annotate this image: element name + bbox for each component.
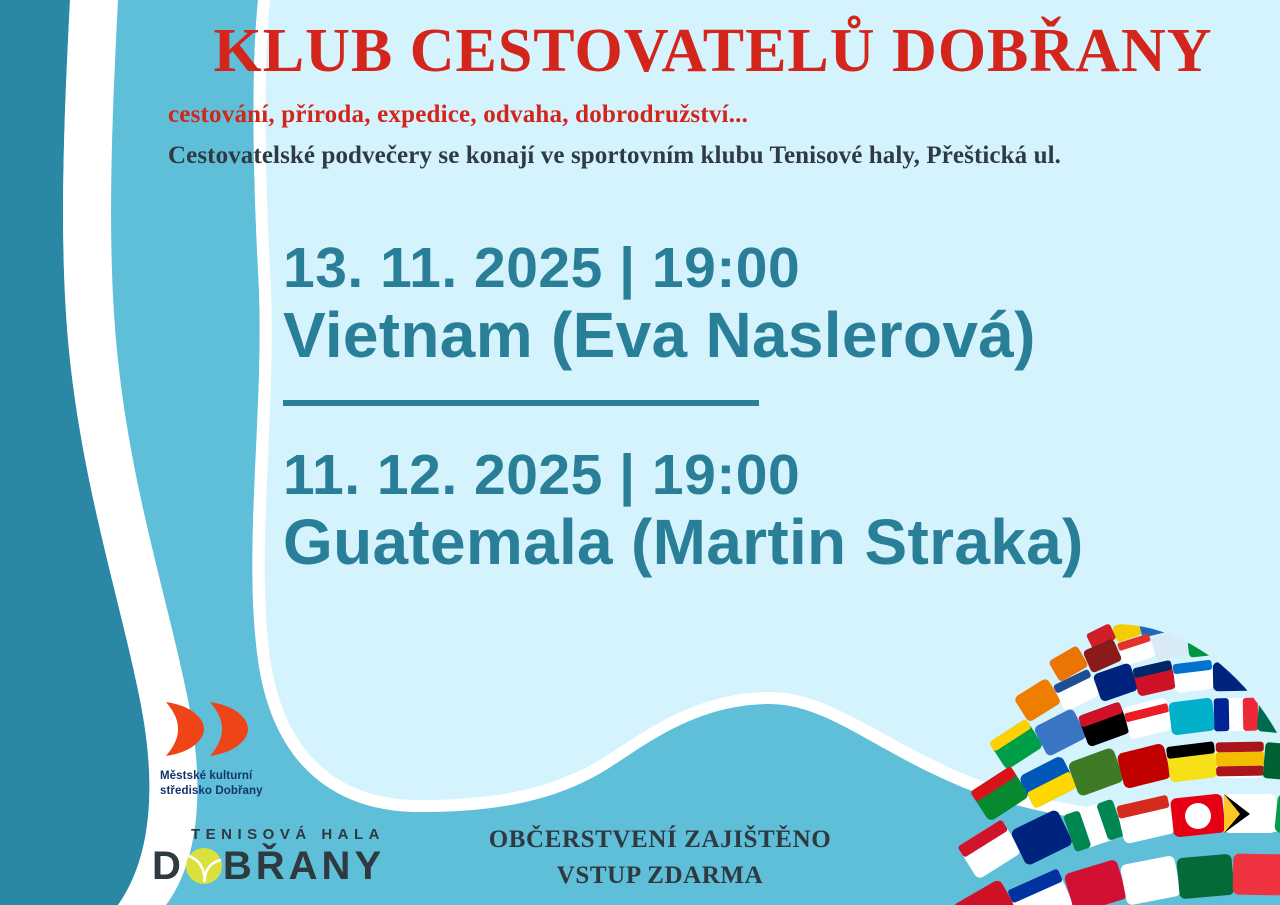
poster-header: KLUB CESTOVATELŮ DOBŘANY cestování, přír… — [168, 18, 1258, 170]
event-date: 11. 12. 2025 | 19:00 — [283, 445, 1163, 507]
tennis-logo-letter-d: D — [152, 844, 185, 888]
mks-quote-marks-icon — [160, 700, 250, 758]
event-divider — [283, 400, 759, 406]
poster-canvas: KLUB CESTOVATELŮ DOBŘANY cestování, přír… — [0, 0, 1280, 905]
tennis-ball-icon — [185, 847, 223, 885]
info-refreshments: OBČERSTVENÍ ZAJIŠTĚNO — [460, 822, 860, 858]
mks-logo-line-2: středisko Dobřany — [160, 784, 340, 799]
flag-globe-graphic — [900, 604, 1280, 905]
poster-venue-note: Cestovatelské podvečery se konají ve spo… — [168, 142, 1258, 170]
mks-logo: Městské kulturní středisko Dobřany — [160, 700, 340, 798]
event-divider-wrap — [283, 371, 1163, 435]
mks-logo-line-1: Městské kulturní — [160, 769, 340, 784]
tennis-hall-logo: TENISOVÁ HALA D BŘANY — [152, 826, 402, 886]
info-free-entry: VSTUP ZDARMA — [460, 858, 860, 894]
event-item: 13. 11. 2025 | 19:00 Vietnam (Eva Nasler… — [283, 238, 1163, 371]
mks-logo-text: Městské kulturní středisko Dobřany — [160, 769, 340, 798]
event-topic: Vietnam (Eva Naslerová) — [283, 300, 1163, 372]
event-date: 13. 11. 2025 | 19:00 — [283, 238, 1163, 300]
info-block: OBČERSTVENÍ ZAJIŠTĚNO VSTUP ZDARMA — [460, 822, 860, 893]
event-list: 13. 11. 2025 | 19:00 Vietnam (Eva Nasler… — [283, 238, 1163, 578]
tennis-hall-logo-main: D BŘANY — [152, 846, 402, 886]
event-item: 11. 12. 2025 | 19:00 Guatemala (Martin S… — [283, 445, 1163, 578]
tennis-hall-logo-top: TENISOVÁ HALA — [152, 826, 402, 843]
tennis-logo-letters-brany: BŘANY — [223, 844, 385, 888]
poster-tagline: cestování, příroda, expedice, odvaha, do… — [168, 101, 1258, 129]
event-topic: Guatemala (Martin Straka) — [283, 507, 1163, 579]
poster-title: KLUB CESTOVATELŮ DOBŘANY — [168, 18, 1258, 85]
